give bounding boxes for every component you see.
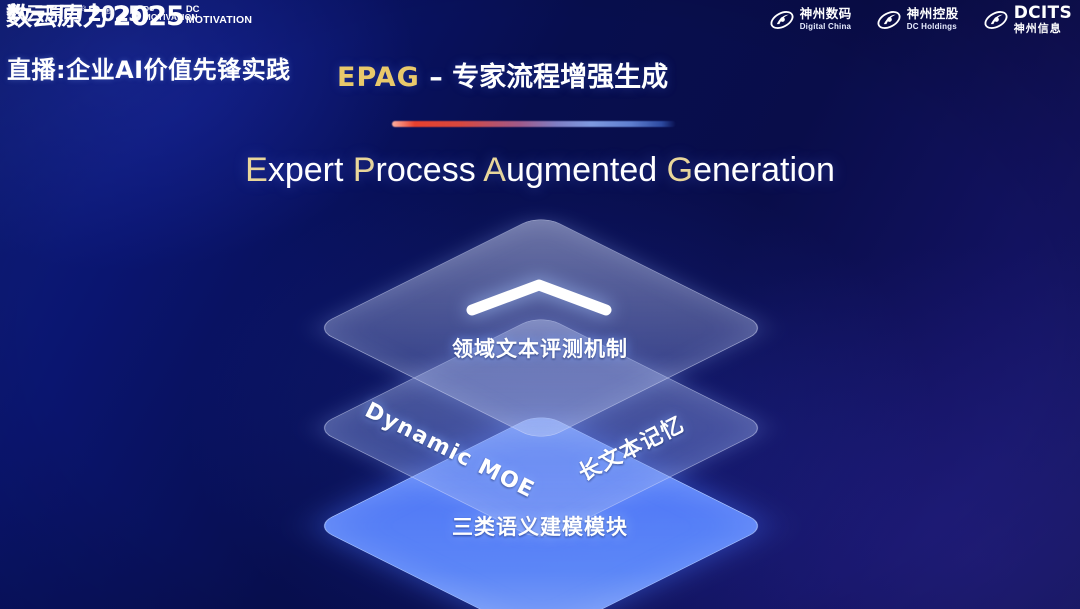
diagram-label-top: 领域文本评测机制: [0, 333, 1080, 363]
brand-motivation-text: MOTIVATION: [144, 12, 198, 22]
brand-year: 2025: [87, 3, 141, 25]
slide-canvas: 数云原力 ® 2025 DC MOTIVATION 直播:企业AI价值先锋实践 …: [0, 0, 1080, 609]
brand-dc-motivation: DC MOTIVATION: [144, 5, 198, 22]
diagram-label-bottom: 三类语义建模模块: [0, 511, 1080, 541]
brand-name-cn: 数云原力: [6, 3, 83, 25]
